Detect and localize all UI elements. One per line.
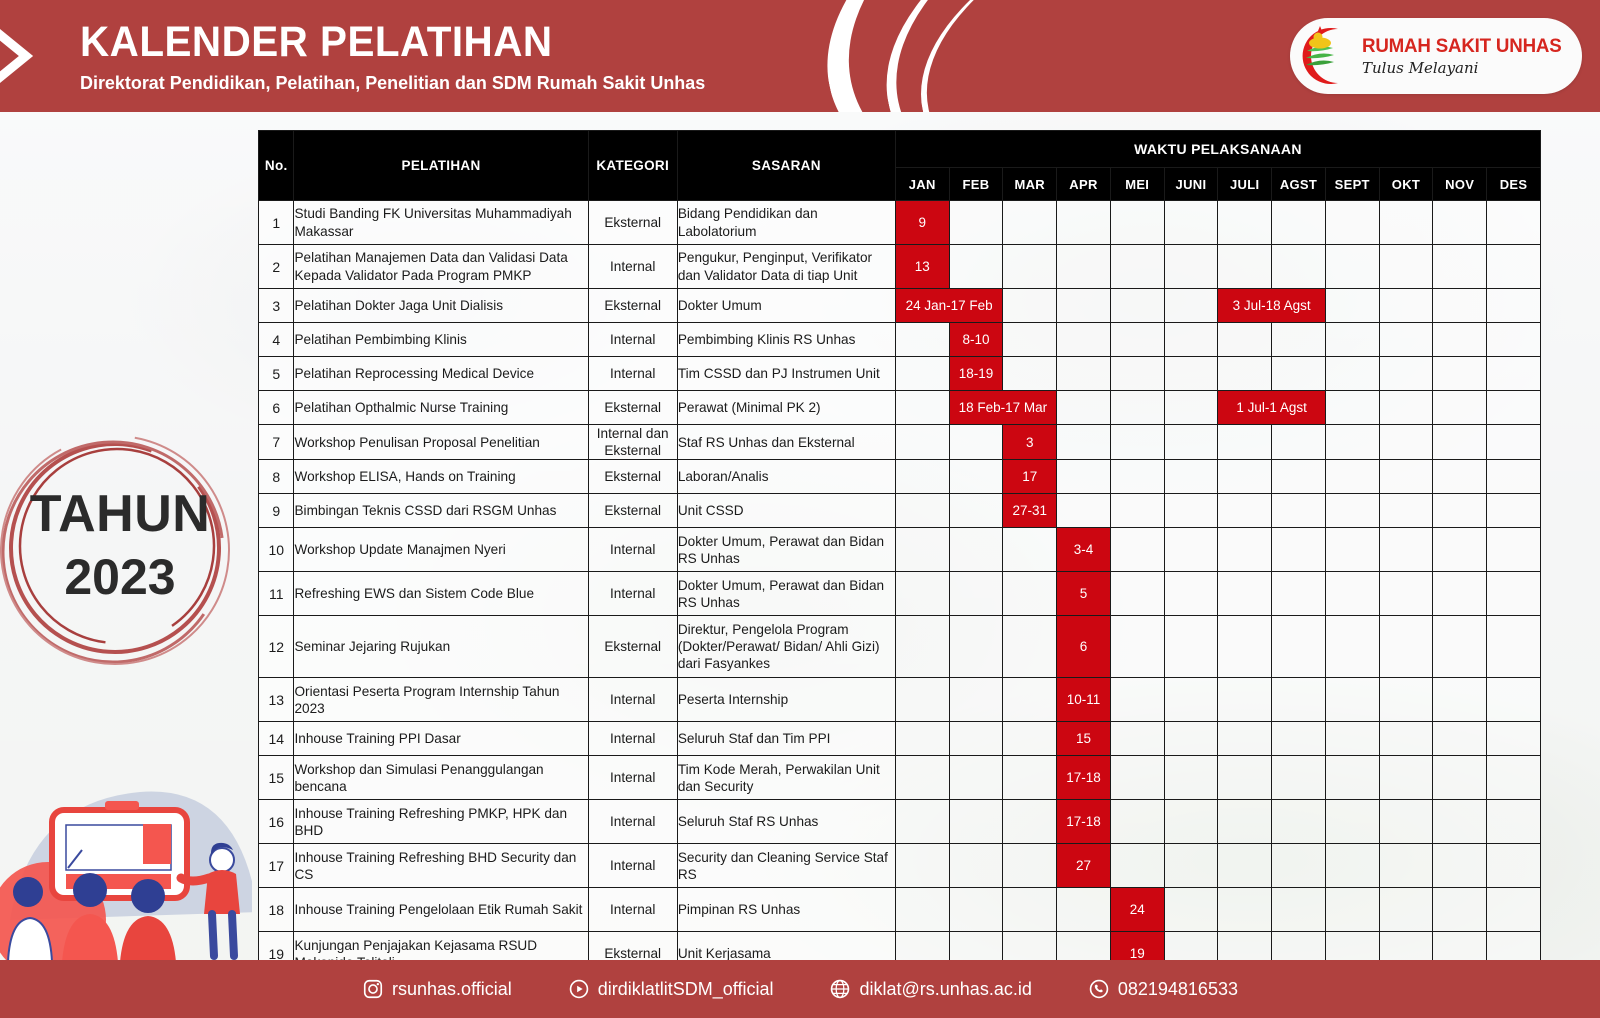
schedule-cell-empty xyxy=(1433,357,1487,391)
schedule-cell-empty xyxy=(1487,391,1541,425)
schedule-cell-filled: 1 Jul-1 Agst xyxy=(1218,391,1326,425)
schedule-cell-empty xyxy=(1218,800,1272,844)
schedule-cell-empty xyxy=(895,844,949,888)
schedule-cell-empty xyxy=(1218,722,1272,756)
schedule-cell-empty xyxy=(1164,888,1218,932)
schedule-cell-empty xyxy=(1218,460,1272,494)
schedule-cell-empty xyxy=(895,391,949,425)
schedule-cell-empty xyxy=(1003,201,1057,245)
col-header-month-nov: NOV xyxy=(1433,168,1487,201)
schedule-cell-empty xyxy=(1325,425,1379,460)
schedule-cell-empty xyxy=(1487,460,1541,494)
schedule-cell-empty xyxy=(1110,800,1164,844)
schedule-cell-empty xyxy=(949,572,1003,616)
schedule-cell-empty xyxy=(1110,494,1164,528)
cell-kategori: Internal xyxy=(588,756,677,800)
schedule-cell-empty xyxy=(1003,323,1057,357)
col-header-month-juli: JULI xyxy=(1218,168,1272,201)
schedule-cell-empty xyxy=(1325,616,1379,678)
schedule-cell-empty xyxy=(1433,616,1487,678)
schedule-cell-empty xyxy=(949,201,1003,245)
cell-sasaran: Tim Kode Merah, Perwakilan Unit dan Secu… xyxy=(677,756,895,800)
schedule-cell-empty xyxy=(895,888,949,932)
schedule-cell-empty xyxy=(1487,678,1541,722)
cell-pelatihan: Refreshing EWS dan Sistem Code Blue xyxy=(294,572,588,616)
training-calendar-table: No. PELATIHAN KATEGORI SASARAN WAKTU PEL… xyxy=(258,130,1541,1010)
table-head: No. PELATIHAN KATEGORI SASARAN WAKTU PEL… xyxy=(259,131,1541,201)
youtube-contact[interactable]: dirdiklatlitSDM_official xyxy=(568,978,774,1000)
cell-no: 16 xyxy=(259,800,294,844)
phone-contact[interactable]: 082194816533 xyxy=(1088,978,1238,1000)
schedule-cell-empty xyxy=(1272,722,1326,756)
table-body: 1Studi Banding FK Universitas Muhammadiy… xyxy=(259,201,1541,1010)
schedule-cell-empty xyxy=(1433,572,1487,616)
schedule-cell-empty xyxy=(1433,844,1487,888)
col-header-waktu-pelaksanaan: WAKTU PELAKSANAAN xyxy=(895,131,1540,168)
cell-sasaran: Tim CSSD dan PJ Instrumen Unit xyxy=(677,357,895,391)
schedule-cell-empty xyxy=(1487,357,1541,391)
schedule-cell-empty xyxy=(1487,722,1541,756)
schedule-cell-empty xyxy=(1433,289,1487,323)
schedule-cell-empty xyxy=(895,323,949,357)
schedule-cell-empty xyxy=(1379,245,1433,289)
logo-tagline: Tulus Melayani xyxy=(1362,59,1570,77)
schedule-cell-filled: 9 xyxy=(895,201,949,245)
table-row: 5Pelatihan Reprocessing Medical DeviceIn… xyxy=(259,357,1541,391)
schedule-cell-empty xyxy=(1164,722,1218,756)
table-row: 13Orientasi Peserta Program Internship T… xyxy=(259,678,1541,722)
schedule-cell-empty xyxy=(895,722,949,756)
schedule-cell-empty xyxy=(1325,323,1379,357)
schedule-cell-empty xyxy=(1110,844,1164,888)
schedule-cell-empty xyxy=(1057,494,1111,528)
cell-pelatihan: Inhouse Training Refreshing BHD Security… xyxy=(294,844,588,888)
cell-kategori: Eksternal xyxy=(588,616,677,678)
cell-pelatihan: Pelatihan Pembimbing Klinis xyxy=(294,323,588,357)
schedule-cell-empty xyxy=(1218,425,1272,460)
schedule-cell-empty xyxy=(1164,289,1218,323)
schedule-cell-empty xyxy=(1433,722,1487,756)
schedule-cell-empty xyxy=(1164,844,1218,888)
col-header-kategori: KATEGORI xyxy=(588,131,677,201)
schedule-cell-filled: 3 Jul-18 Agst xyxy=(1218,289,1326,323)
col-header-month-agst: AGST xyxy=(1272,168,1326,201)
cell-no: 8 xyxy=(259,460,294,494)
schedule-cell-empty xyxy=(949,888,1003,932)
schedule-cell-empty xyxy=(949,460,1003,494)
header-text-block: KALENDER PELATIHAN Direktorat Pendidikan… xyxy=(80,20,725,94)
schedule-cell-empty xyxy=(1325,888,1379,932)
schedule-cell-empty xyxy=(1487,800,1541,844)
year-value: 2023 xyxy=(0,552,240,602)
cell-sasaran: Direktur, Pengelola Program (Dokter/Pera… xyxy=(677,616,895,678)
schedule-cell-empty xyxy=(1433,494,1487,528)
cell-kategori: Internal xyxy=(588,528,677,572)
schedule-cell-empty xyxy=(1164,572,1218,616)
schedule-cell-filled: 17 xyxy=(1003,460,1057,494)
youtube-icon xyxy=(568,978,590,1000)
schedule-cell-empty xyxy=(1487,888,1541,932)
cell-sasaran: Dokter Umum, Perawat dan Bidan RS Unhas xyxy=(677,528,895,572)
schedule-cell-empty xyxy=(1110,722,1164,756)
schedule-cell-empty xyxy=(1057,201,1111,245)
cell-pelatihan: Inhouse Training PPI Dasar xyxy=(294,722,588,756)
cell-sasaran: Pembimbing Klinis RS Unhas xyxy=(677,323,895,357)
schedule-cell-empty xyxy=(1379,425,1433,460)
schedule-cell-empty xyxy=(1164,245,1218,289)
schedule-cell-filled: 27 xyxy=(1057,844,1111,888)
chevron-right-icon xyxy=(0,2,72,110)
schedule-cell-empty xyxy=(1110,201,1164,245)
cell-pelatihan: Pelatihan Reprocessing Medical Device xyxy=(294,357,588,391)
cell-sasaran: Seluruh Staf RS Unhas xyxy=(677,800,895,844)
schedule-cell-empty xyxy=(1164,460,1218,494)
schedule-cell-empty xyxy=(1164,391,1218,425)
schedule-cell-empty xyxy=(1325,678,1379,722)
schedule-cell-empty xyxy=(1379,888,1433,932)
cell-kategori: Eksternal xyxy=(588,460,677,494)
cell-sasaran: Bidang Pendidikan dan Labolatorium xyxy=(677,201,895,245)
col-header-month-juni: JUNI xyxy=(1164,168,1218,201)
schedule-cell-empty xyxy=(949,756,1003,800)
schedule-cell-empty xyxy=(1003,800,1057,844)
schedule-cell-empty xyxy=(949,616,1003,678)
schedule-cell-empty xyxy=(1110,756,1164,800)
schedule-cell-empty xyxy=(949,245,1003,289)
cell-pelatihan: Studi Banding FK Universitas Muhammadiya… xyxy=(294,201,588,245)
table-row: 9Bimbingan Teknis CSSD dari RSGM UnhasEk… xyxy=(259,494,1541,528)
schedule-cell-empty xyxy=(1057,460,1111,494)
schedule-cell-filled: 6 xyxy=(1057,616,1111,678)
schedule-cell-empty xyxy=(949,528,1003,572)
schedule-cell-empty xyxy=(1379,357,1433,391)
schedule-cell-empty xyxy=(1218,678,1272,722)
schedule-cell-empty xyxy=(1272,888,1326,932)
schedule-cell-empty xyxy=(895,616,949,678)
col-header-month-okt: OKT xyxy=(1379,168,1433,201)
schedule-cell-empty xyxy=(1057,357,1111,391)
instagram-icon xyxy=(362,978,384,1000)
schedule-cell-empty xyxy=(1110,323,1164,357)
schedule-cell-empty xyxy=(1218,245,1272,289)
schedule-cell-empty xyxy=(895,425,949,460)
cell-sasaran: Peserta Internship xyxy=(677,678,895,722)
schedule-cell-empty xyxy=(1433,800,1487,844)
schedule-cell-empty xyxy=(1433,528,1487,572)
table-row: 15Workshop dan Simulasi Penanggulangan b… xyxy=(259,756,1541,800)
cell-sasaran: Security dan Cleaning Service Staf RS xyxy=(677,844,895,888)
schedule-cell-empty xyxy=(1218,888,1272,932)
table-row: 17Inhouse Training Refreshing BHD Securi… xyxy=(259,844,1541,888)
schedule-cell-empty xyxy=(1272,494,1326,528)
schedule-cell-filled: 24 Jan-17 Feb xyxy=(895,289,1003,323)
cell-no: 10 xyxy=(259,528,294,572)
schedule-cell-empty xyxy=(1057,391,1111,425)
schedule-cell-empty xyxy=(1164,323,1218,357)
schedule-cell-filled: 17-18 xyxy=(1057,800,1111,844)
col-header-month-mar: MAR xyxy=(1003,168,1057,201)
schedule-cell-empty xyxy=(1487,844,1541,888)
schedule-cell-empty xyxy=(1110,572,1164,616)
cell-no: 12 xyxy=(259,616,294,678)
schedule-cell-empty xyxy=(1379,572,1433,616)
schedule-cell-filled: 3 xyxy=(1003,425,1057,460)
schedule-cell-empty xyxy=(895,494,949,528)
youtube-handle: dirdiklatlitSDM_official xyxy=(598,979,774,1000)
schedule-cell-empty xyxy=(1003,289,1057,323)
schedule-cell-empty xyxy=(895,756,949,800)
cell-kategori: Internal xyxy=(588,888,677,932)
cell-pelatihan: Inhouse Training Pengelolaan Etik Rumah … xyxy=(294,888,588,932)
schedule-cell-empty xyxy=(1325,800,1379,844)
email-address: diklat@rs.unhas.ac.id xyxy=(859,979,1031,1000)
hospital-logo: RUMAH SAKIT UNHAS Tulus Melayani xyxy=(1290,18,1582,94)
col-header-month-des: DES xyxy=(1487,168,1541,201)
schedule-cell-empty xyxy=(1487,245,1541,289)
cell-kategori: Eksternal xyxy=(588,391,677,425)
schedule-cell-empty xyxy=(1379,494,1433,528)
cell-no: 11 xyxy=(259,572,294,616)
schedule-cell-empty xyxy=(949,722,1003,756)
schedule-cell-empty xyxy=(1325,528,1379,572)
schedule-cell-empty xyxy=(1110,357,1164,391)
instagram-contact[interactable]: rsunhas.official xyxy=(362,978,512,1000)
email-contact[interactable]: diklat@rs.unhas.ac.id xyxy=(829,978,1031,1000)
schedule-cell-empty xyxy=(949,800,1003,844)
cell-no: 2 xyxy=(259,245,294,289)
cell-no: 15 xyxy=(259,756,294,800)
schedule-cell-empty xyxy=(1379,844,1433,888)
schedule-cell-filled: 27-31 xyxy=(1003,494,1057,528)
schedule-cell-empty xyxy=(1325,756,1379,800)
schedule-cell-empty xyxy=(949,494,1003,528)
schedule-cell-empty xyxy=(1487,756,1541,800)
schedule-cell-empty xyxy=(1110,245,1164,289)
schedule-cell-empty xyxy=(1325,201,1379,245)
cell-sasaran: Pimpinan RS Unhas xyxy=(677,888,895,932)
schedule-cell-empty xyxy=(1218,616,1272,678)
schedule-cell-empty xyxy=(1325,844,1379,888)
page-footer: rsunhas.official dirdiklatlitSDM_officia… xyxy=(0,960,1600,1018)
schedule-cell-empty xyxy=(1379,722,1433,756)
cell-pelatihan: Seminar Jejaring Rujukan xyxy=(294,616,588,678)
cell-sasaran: Unit CSSD xyxy=(677,494,895,528)
table-row: 11Refreshing EWS dan Sistem Code BlueInt… xyxy=(259,572,1541,616)
schedule-cell-empty xyxy=(895,460,949,494)
schedule-cell-empty xyxy=(1379,528,1433,572)
phone-icon xyxy=(1088,978,1110,1000)
cell-no: 7 xyxy=(259,425,294,460)
schedule-cell-empty xyxy=(1110,528,1164,572)
cell-kategori: Internal xyxy=(588,245,677,289)
schedule-cell-empty xyxy=(1164,756,1218,800)
schedule-cell-empty xyxy=(1003,844,1057,888)
cell-no: 9 xyxy=(259,494,294,528)
schedule-cell-empty xyxy=(1218,528,1272,572)
schedule-cell-empty xyxy=(1272,323,1326,357)
cell-no: 18 xyxy=(259,888,294,932)
schedule-cell-empty xyxy=(1487,289,1541,323)
logo-crescent-icon xyxy=(1286,19,1360,93)
schedule-cell-empty xyxy=(1325,494,1379,528)
schedule-cell-empty xyxy=(1057,425,1111,460)
schedule-cell-empty xyxy=(1057,245,1111,289)
schedule-cell-empty xyxy=(1164,528,1218,572)
cell-kategori: Internal xyxy=(588,323,677,357)
schedule-cell-filled: 10-11 xyxy=(1057,678,1111,722)
col-header-pelatihan: PELATIHAN xyxy=(294,131,588,201)
cell-pelatihan: Pelatihan Opthalmic Nurse Training xyxy=(294,391,588,425)
table-header-row-1: No. PELATIHAN KATEGORI SASARAN WAKTU PEL… xyxy=(259,131,1541,168)
table-row: 7Workshop Penulisan Proposal PenelitianI… xyxy=(259,425,1541,460)
cell-no: 14 xyxy=(259,722,294,756)
cell-kategori: Internal xyxy=(588,678,677,722)
schedule-cell-empty xyxy=(1003,678,1057,722)
cell-kategori: Internal xyxy=(588,357,677,391)
schedule-cell-filled: 17-18 xyxy=(1057,756,1111,800)
schedule-cell-empty xyxy=(1218,494,1272,528)
schedule-cell-empty xyxy=(1003,572,1057,616)
schedule-cell-empty xyxy=(1487,201,1541,245)
training-illustration xyxy=(0,770,252,962)
schedule-cell-empty xyxy=(1110,678,1164,722)
schedule-cell-empty xyxy=(1325,245,1379,289)
schedule-cell-empty xyxy=(1003,616,1057,678)
schedule-cell-empty xyxy=(1272,756,1326,800)
schedule-cell-empty xyxy=(1433,323,1487,357)
cell-no: 3 xyxy=(259,289,294,323)
schedule-cell-empty xyxy=(1003,756,1057,800)
schedule-cell-empty xyxy=(1164,425,1218,460)
cell-pelatihan: Workshop dan Simulasi Penanggulangan ben… xyxy=(294,756,588,800)
schedule-cell-empty xyxy=(1487,572,1541,616)
schedule-cell-empty xyxy=(1057,888,1111,932)
schedule-cell-empty xyxy=(1379,391,1433,425)
cell-kategori: Internal xyxy=(588,800,677,844)
schedule-cell-empty xyxy=(1379,289,1433,323)
schedule-cell-empty xyxy=(895,678,949,722)
schedule-cell-empty xyxy=(1433,245,1487,289)
schedule-cell-empty xyxy=(1164,494,1218,528)
schedule-cell-empty xyxy=(1272,678,1326,722)
col-header-month-feb: FEB xyxy=(949,168,1003,201)
schedule-cell-empty xyxy=(949,844,1003,888)
cell-no: 4 xyxy=(259,323,294,357)
phone-number: 082194816533 xyxy=(1118,979,1238,1000)
schedule-cell-empty xyxy=(1110,289,1164,323)
col-header-no: No. xyxy=(259,131,294,201)
page-header: KALENDER PELATIHAN Direktorat Pendidikan… xyxy=(0,0,1600,112)
schedule-cell-empty xyxy=(895,800,949,844)
cell-pelatihan: Workshop Penulisan Proposal Penelitian xyxy=(294,425,588,460)
table-row: 3Pelatihan Dokter Jaga Unit DialisisEkst… xyxy=(259,289,1541,323)
cell-pelatihan: Pelatihan Dokter Jaga Unit Dialisis xyxy=(294,289,588,323)
cell-kategori: Internal dan Eksternal xyxy=(588,425,677,460)
cell-sasaran: Dokter Umum xyxy=(677,289,895,323)
schedule-cell-empty xyxy=(1433,678,1487,722)
schedule-cell-empty xyxy=(1272,201,1326,245)
col-header-month-jan: JAN xyxy=(895,168,949,201)
schedule-cell-empty xyxy=(1003,888,1057,932)
schedule-cell-empty xyxy=(1272,800,1326,844)
col-header-sasaran: SASARAN xyxy=(677,131,895,201)
page-subtitle: Direktorat Pendidikan, Pelatihan, Peneli… xyxy=(80,72,705,94)
schedule-cell-filled: 5 xyxy=(1057,572,1111,616)
schedule-cell-empty xyxy=(1218,357,1272,391)
schedule-cell-empty xyxy=(1110,460,1164,494)
table-row: 6Pelatihan Opthalmic Nurse TrainingEkste… xyxy=(259,391,1541,425)
schedule-cell-filled: 18 Feb-17 Mar xyxy=(949,391,1057,425)
table-row: 4Pelatihan Pembimbing KlinisInternalPemb… xyxy=(259,323,1541,357)
page-title: KALENDER PELATIHAN xyxy=(80,20,686,65)
schedule-cell-empty xyxy=(1379,201,1433,245)
schedule-cell-empty xyxy=(895,528,949,572)
schedule-cell-filled: 24 xyxy=(1110,888,1164,932)
schedule-cell-empty xyxy=(1433,460,1487,494)
table-row: 1Studi Banding FK Universitas Muhammadiy… xyxy=(259,201,1541,245)
schedule-cell-empty xyxy=(1218,201,1272,245)
cell-kategori: Eksternal xyxy=(588,494,677,528)
schedule-cell-empty xyxy=(1057,289,1111,323)
year-text-block: TAHUN 2023 xyxy=(0,488,240,602)
schedule-cell-empty xyxy=(1218,572,1272,616)
schedule-cell-empty xyxy=(1272,357,1326,391)
table-row: 18Inhouse Training Pengelolaan Etik Ruma… xyxy=(259,888,1541,932)
schedule-cell-empty xyxy=(1272,425,1326,460)
schedule-cell-empty xyxy=(1433,888,1487,932)
schedule-cell-empty xyxy=(1272,844,1326,888)
cell-sasaran: Perawat (Minimal PK 2) xyxy=(677,391,895,425)
schedule-cell-empty xyxy=(895,357,949,391)
schedule-cell-empty xyxy=(949,678,1003,722)
schedule-cell-empty xyxy=(1325,391,1379,425)
schedule-cell-empty xyxy=(1325,460,1379,494)
globe-icon xyxy=(829,978,851,1000)
schedule-cell-empty xyxy=(1379,616,1433,678)
schedule-cell-empty xyxy=(1379,756,1433,800)
cell-no: 1 xyxy=(259,201,294,245)
schedule-cell-empty xyxy=(1272,572,1326,616)
schedule-cell-empty xyxy=(1272,245,1326,289)
schedule-cell-empty xyxy=(1379,800,1433,844)
cell-no: 13 xyxy=(259,678,294,722)
cell-pelatihan: Workshop Update Manajmen Nyeri xyxy=(294,528,588,572)
schedule-cell-empty xyxy=(1487,528,1541,572)
col-header-month-sept: SEPT xyxy=(1325,168,1379,201)
schedule-cell-empty xyxy=(1433,201,1487,245)
cell-no: 17 xyxy=(259,844,294,888)
schedule-cell-empty xyxy=(1164,201,1218,245)
schedule-cell-empty xyxy=(1433,425,1487,460)
schedule-cell-empty xyxy=(1433,391,1487,425)
schedule-cell-empty xyxy=(1003,528,1057,572)
schedule-cell-empty xyxy=(1110,616,1164,678)
schedule-cell-empty xyxy=(1003,357,1057,391)
schedule-cell-empty xyxy=(1379,323,1433,357)
table-row: 2Pelatihan Manajemen Data dan Validasi D… xyxy=(259,245,1541,289)
cell-sasaran: Staf RS Unhas dan Eksternal xyxy=(677,425,895,460)
year-label: TAHUN xyxy=(0,488,240,540)
schedule-cell-empty xyxy=(1325,357,1379,391)
schedule-cell-empty xyxy=(1218,323,1272,357)
cell-pelatihan: Inhouse Training Refreshing PMKP, HPK da… xyxy=(294,800,588,844)
schedule-cell-empty xyxy=(1487,616,1541,678)
schedule-cell-filled: 13 xyxy=(895,245,949,289)
schedule-cell-empty xyxy=(895,572,949,616)
cell-kategori: Internal xyxy=(588,722,677,756)
schedule-cell-empty xyxy=(1272,616,1326,678)
table-row: 16Inhouse Training Refreshing PMKP, HPK … xyxy=(259,800,1541,844)
